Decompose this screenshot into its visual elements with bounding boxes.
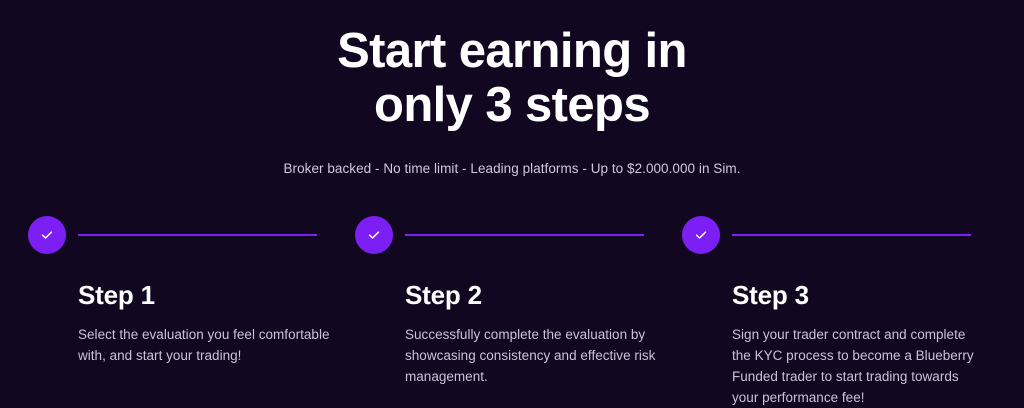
- step-2-body: Step 2 Successfully complete the evaluat…: [355, 254, 682, 387]
- step-3-badge: [682, 216, 720, 254]
- step-1-title: Step 1: [78, 254, 331, 310]
- section-header: Start earning in only 3 steps Broker bac…: [0, 24, 1024, 178]
- step-1-connector-line: [78, 234, 317, 236]
- step-1-badge: [28, 216, 66, 254]
- step-item-1: Step 1 Select the evaluation you feel co…: [28, 216, 355, 366]
- page-subtitle: Broker backed - No time limit - Leading …: [0, 132, 1024, 178]
- step-3-marker-row: [682, 216, 1009, 254]
- step-2-badge: [355, 216, 393, 254]
- step-2-marker-row: [355, 216, 682, 254]
- promo-section: Start earning in only 3 steps Broker bac…: [0, 0, 1024, 407]
- step-1-description: Select the evaluation you feel comfortab…: [78, 310, 330, 366]
- check-icon: [40, 228, 54, 242]
- step-1-marker-row: [28, 216, 355, 254]
- step-item-2: Step 2 Successfully complete the evaluat…: [355, 216, 682, 387]
- step-3-connector-line: [732, 234, 971, 236]
- step-2-description: Successfully complete the evaluation by …: [405, 310, 657, 387]
- step-3-description: Sign your trader contract and complete t…: [732, 310, 984, 408]
- page-title: Start earning in only 3 steps: [0, 24, 1024, 132]
- step-item-3: Step 3 Sign your trader contract and com…: [682, 216, 1009, 408]
- steps-list: Step 1 Select the evaluation you feel co…: [28, 216, 996, 408]
- step-2-connector-line: [405, 234, 644, 236]
- check-icon: [694, 228, 708, 242]
- step-1-body: Step 1 Select the evaluation you feel co…: [28, 254, 355, 366]
- step-3-body: Step 3 Sign your trader contract and com…: [682, 254, 1009, 408]
- check-icon: [367, 228, 381, 242]
- step-3-title: Step 3: [732, 254, 985, 310]
- step-2-title: Step 2: [405, 254, 658, 310]
